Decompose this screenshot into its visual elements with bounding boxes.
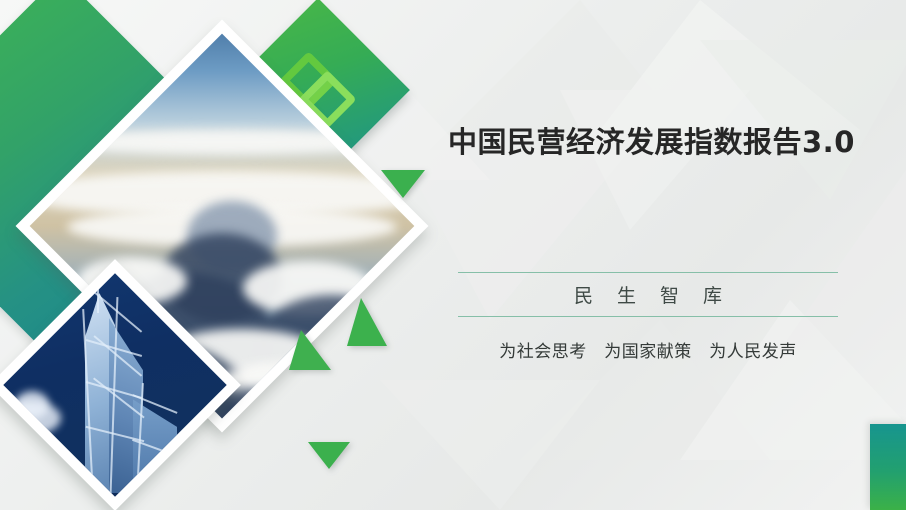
corner-accent-block <box>870 424 906 510</box>
decorative-triangle <box>289 330 331 370</box>
brand-tagline: 为社会思考 为国家献策 为人民发声 <box>448 337 848 362</box>
brand-rule-bottom <box>458 316 838 317</box>
decorative-triangle <box>347 298 387 346</box>
decorative-triangle <box>381 170 425 198</box>
brand-rule-top <box>458 272 838 273</box>
poly-facet <box>380 380 600 510</box>
page-title: 中国民营经济发展指数报告3.0 <box>448 124 868 160</box>
decorative-triangle <box>308 442 350 469</box>
poly-facet <box>780 170 906 350</box>
brand-name: 民 生 智 库 <box>458 281 838 308</box>
presentation-slide: 中国民营经济发展指数报告3.0 民 生 智 库 为社会思考 为国家献策 为人民发… <box>0 0 906 510</box>
